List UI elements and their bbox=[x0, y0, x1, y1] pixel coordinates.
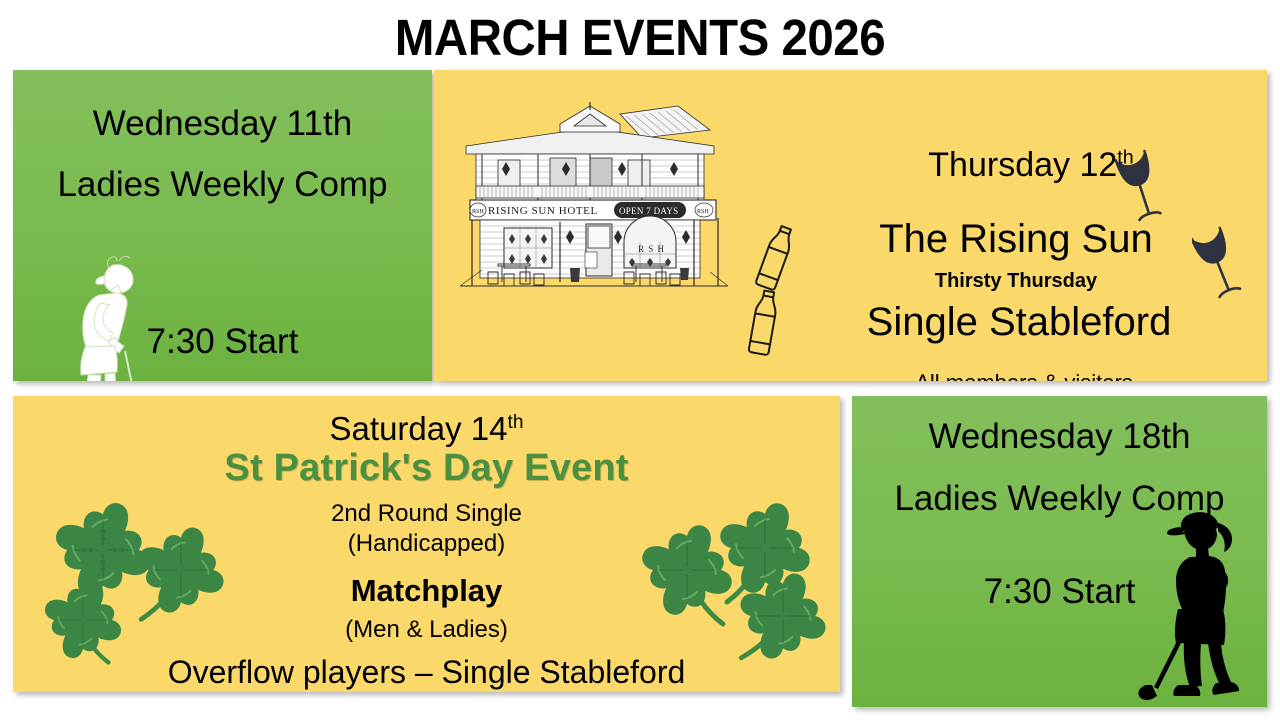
event-date-text: Saturday 14 bbox=[330, 410, 508, 447]
event-card-wednesday-11: Wednesday 11th Ladies Weekly Comp 7:30 S… bbox=[13, 70, 432, 381]
event-card-saturday-14: Saturday 14th St Patrick's Day Event 2nd… bbox=[13, 396, 840, 692]
event-date-suffix: th bbox=[508, 412, 524, 433]
event-detail-line-3: (Men & Ladies) bbox=[13, 616, 840, 644]
svg-text:RSH: RSH bbox=[697, 209, 709, 215]
page-title: MARCH EVENTS 2026 bbox=[45, 8, 1235, 67]
event-date: Saturday 14th bbox=[13, 410, 840, 448]
svg-text:OPEN 7 DAYS: OPEN 7 DAYS bbox=[619, 206, 678, 216]
svg-text:R S H: R S H bbox=[638, 244, 665, 254]
event-format: Single Stableford bbox=[774, 300, 1264, 345]
event-venue: The Rising Sun bbox=[796, 217, 1236, 262]
event-detail-line-2: (Handicapped) bbox=[13, 530, 840, 558]
event-date-suffix: th bbox=[1117, 147, 1133, 169]
beer-bottle-icon bbox=[754, 220, 798, 292]
event-detail-line-1: 2nd Round Single bbox=[13, 500, 840, 528]
event-date-text: Thursday 12 bbox=[928, 146, 1117, 184]
rising-sun-hotel-illustration: RISING SUN HOTEL OPEN 7 DAYS RSH RSH bbox=[442, 100, 747, 300]
golfer-putting-icon bbox=[55, 255, 165, 381]
event-name: St Patrick's Day Event bbox=[13, 447, 840, 490]
svg-text:RISING SUN HOTEL: RISING SUN HOTEL bbox=[488, 205, 598, 217]
event-subtitle: Thirsty Thursday bbox=[796, 270, 1236, 293]
svg-text:RSH: RSH bbox=[472, 209, 484, 215]
event-date: Wednesday 18th bbox=[852, 417, 1267, 457]
golfer-silhouette-icon bbox=[1132, 501, 1262, 701]
event-date: Thursday 12th bbox=[796, 146, 1266, 185]
event-card-thursday-12: RISING SUN HOTEL OPEN 7 DAYS RSH RSH bbox=[434, 70, 1267, 381]
event-date: Wednesday 11th bbox=[13, 104, 432, 144]
event-note-line-1: All members & visitors bbox=[774, 370, 1267, 381]
event-match-format: Matchplay bbox=[13, 573, 840, 609]
event-detail-line-4: Overflow players – Single Stableford bbox=[13, 654, 840, 691]
event-name: Ladies Weekly Comp bbox=[13, 165, 432, 205]
event-card-wednesday-18: Wednesday 18th Ladies Weekly Comp 7:30 S… bbox=[852, 396, 1267, 707]
